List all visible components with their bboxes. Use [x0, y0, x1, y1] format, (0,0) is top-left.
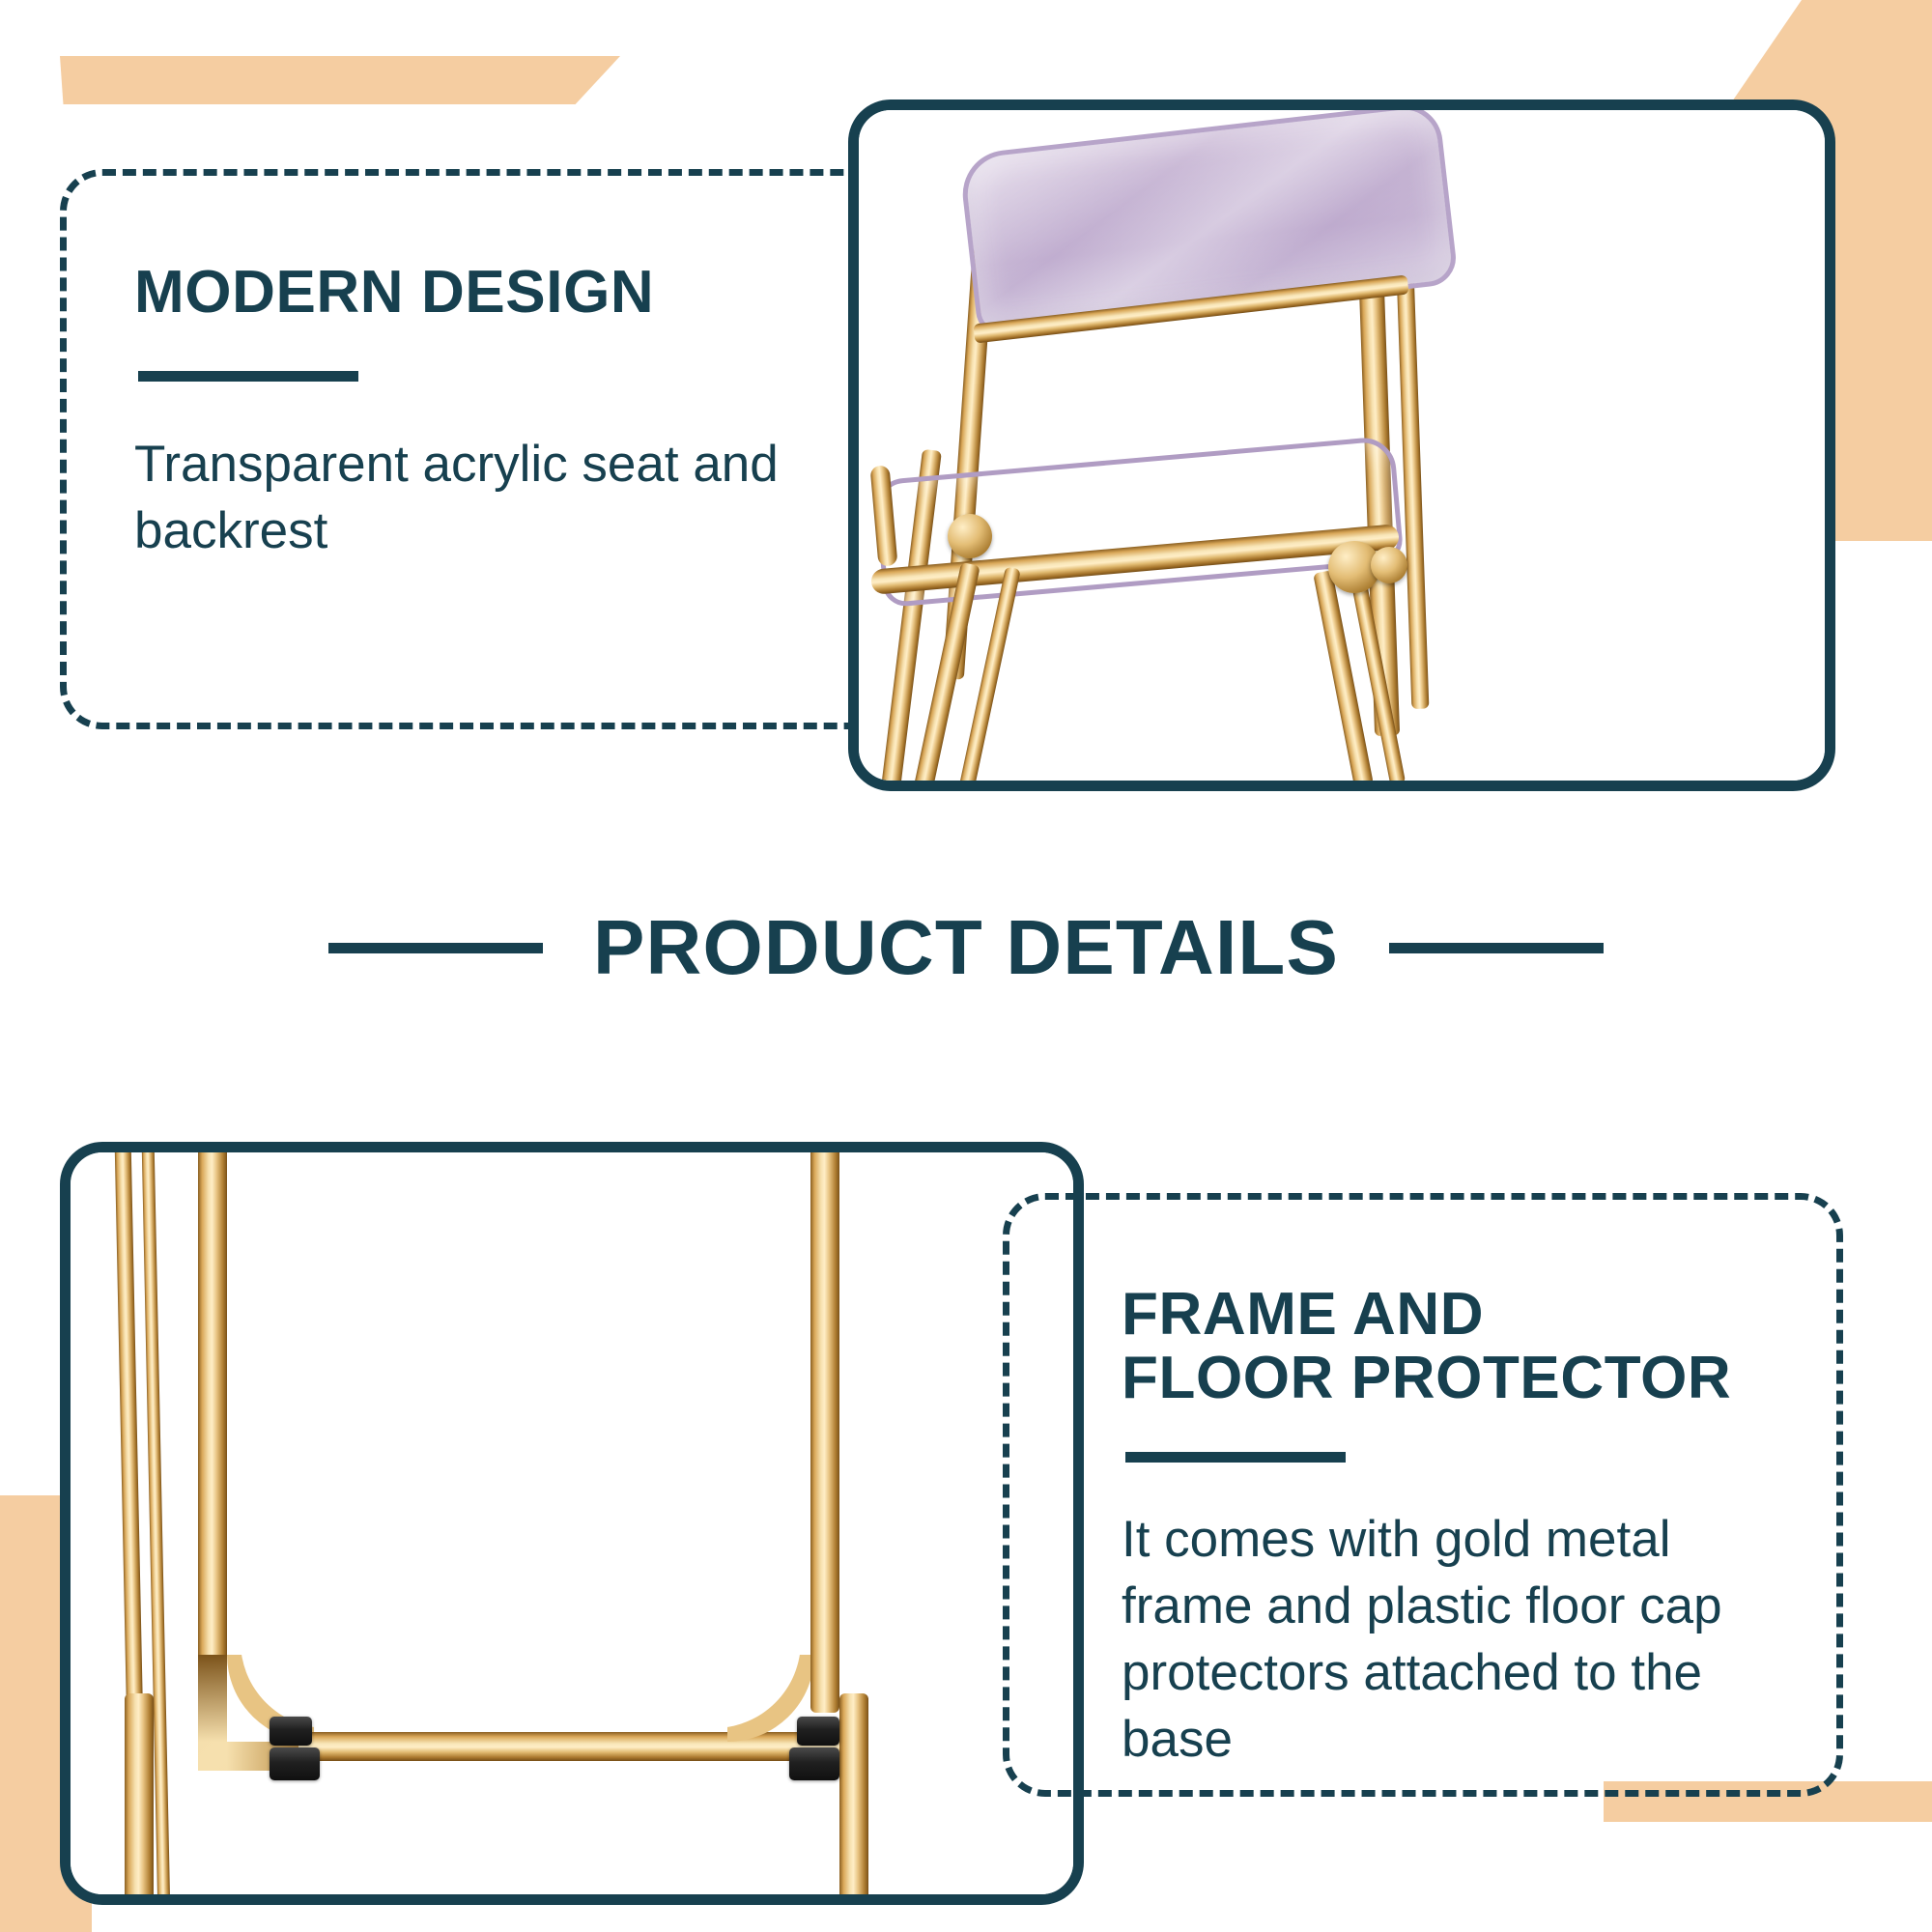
section-header-product-details: PRODUCT DETAILS — [0, 903, 1932, 992]
infographic-page: MODERN DESIGN Transparent acrylic seat a… — [0, 0, 1932, 1932]
frame-floor-protector-body: It comes with gold metal frame and plast… — [1122, 1507, 1776, 1774]
photo-card-frame-base — [60, 1142, 1084, 1905]
frame-floor-protector-content: FRAME AND FLOOR PROTECTOR It comes with … — [1009, 1200, 1836, 1774]
frame-floor-protector-heading-line-2: FLOOR PROTECTOR — [1122, 1347, 1776, 1410]
decor-shape-top-left — [60, 56, 620, 104]
feature-card-modern-design: MODERN DESIGN Transparent acrylic seat a… — [60, 169, 910, 729]
feature-card-frame-floor-protector: FRAME AND FLOOR PROTECTOR It comes with … — [1003, 1193, 1843, 1797]
modern-design-body: Transparent acrylic seat and backrest — [134, 432, 836, 565]
floor-cap-protector — [270, 1717, 312, 1746]
frame-base-photo-image — [71, 1152, 1073, 1894]
section-title-text: PRODUCT DETAILS — [593, 903, 1339, 992]
modern-design-heading: MODERN DESIGN — [134, 261, 836, 325]
chair-photo-image — [859, 110, 1825, 781]
frame-floor-protector-divider — [1125, 1452, 1346, 1463]
section-rule-right — [1389, 943, 1604, 953]
floor-cap-protector — [789, 1747, 839, 1780]
floor-cap-protector — [797, 1717, 839, 1746]
photo-card-chair — [848, 99, 1835, 791]
modern-design-content: MODERN DESIGN Transparent acrylic seat a… — [67, 176, 903, 565]
section-rule-left — [328, 943, 543, 953]
floor-cap-protector — [270, 1747, 320, 1780]
frame-floor-protector-heading-line-1: FRAME AND — [1122, 1283, 1776, 1347]
modern-design-divider — [138, 371, 358, 382]
